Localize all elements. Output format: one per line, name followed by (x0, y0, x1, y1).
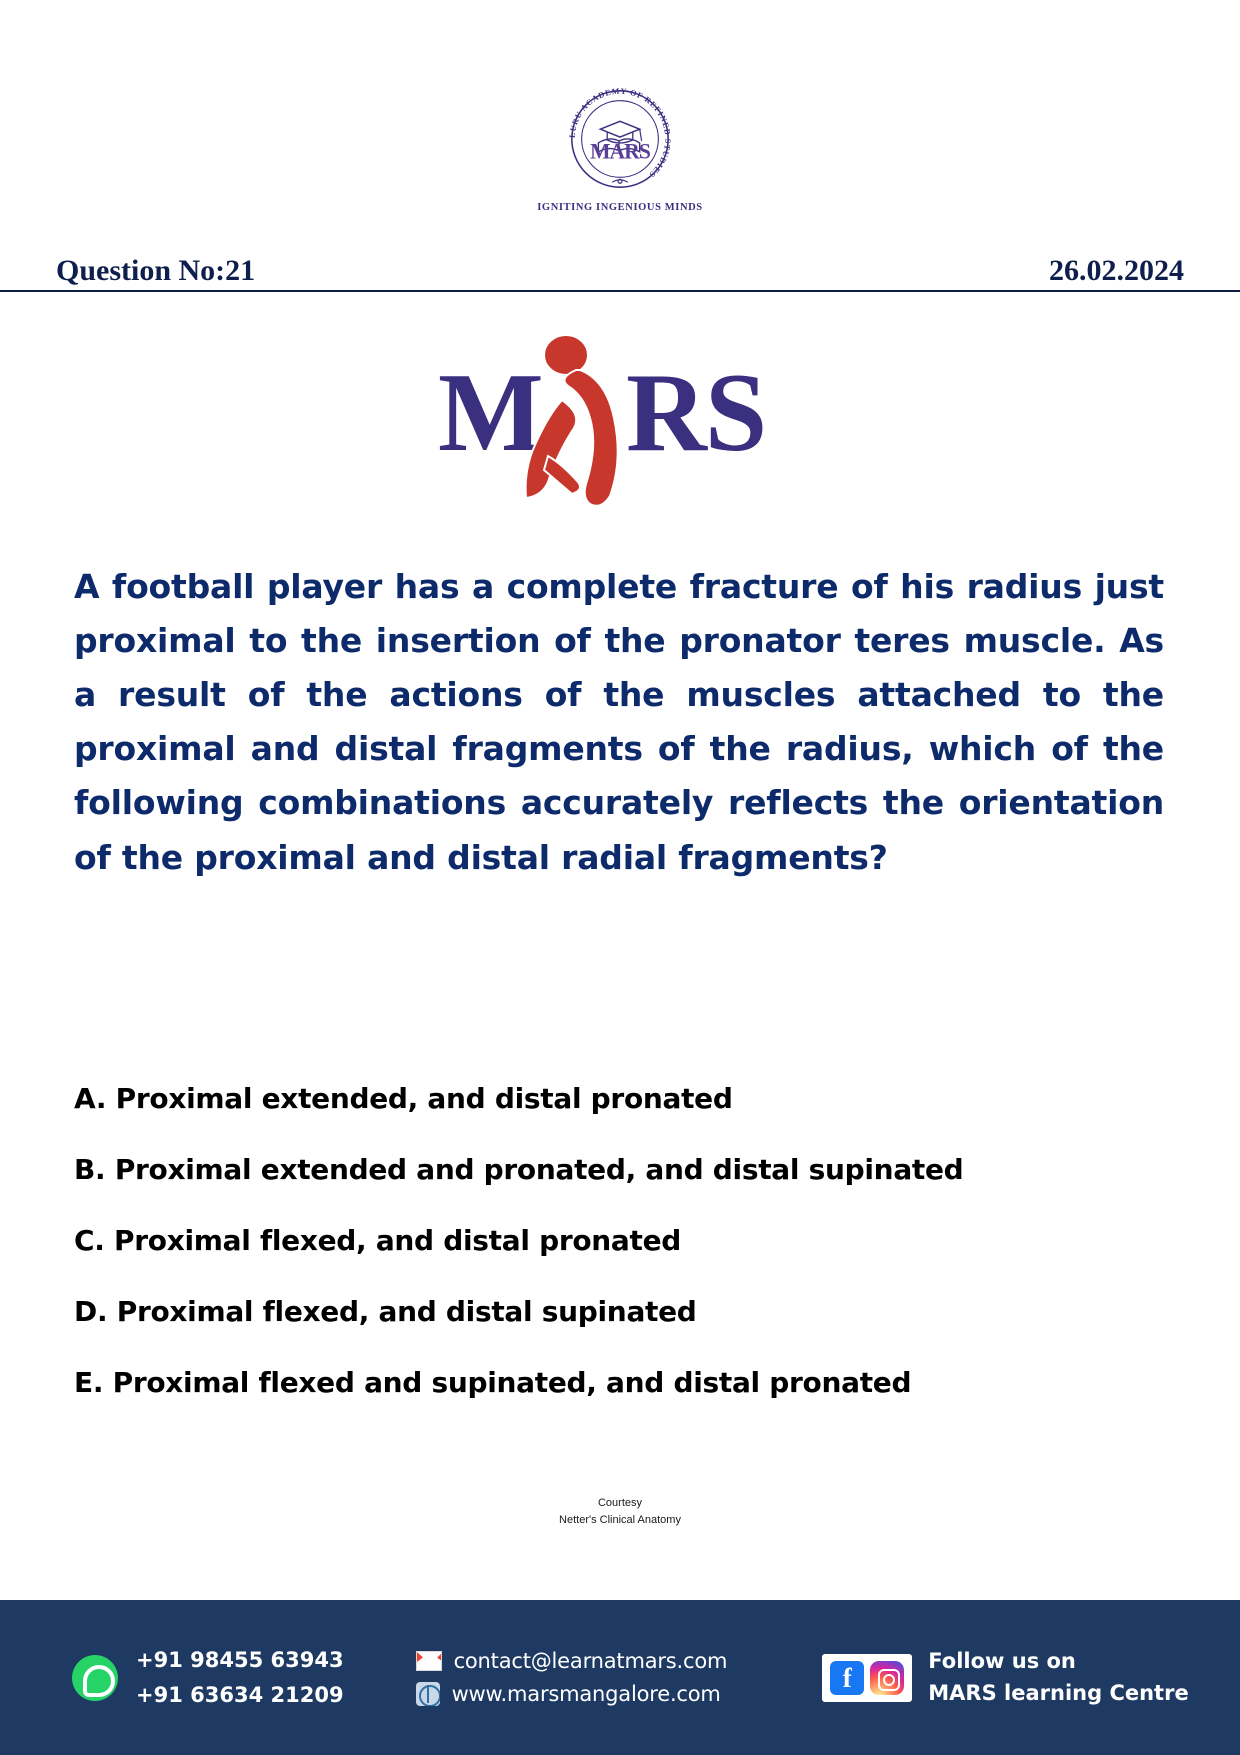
whatsapp-icon[interactable] (72, 1655, 118, 1701)
gmail-icon (416, 1651, 442, 1671)
mars-academy-seal-icon: MANGALURU ACADEMY OF REFINED STUDIES MAR… (561, 80, 679, 198)
social-handle-label: MARS learning Centre (928, 1678, 1188, 1710)
document-page: MANGALURU ACADEMY OF REFINED STUDIES MAR… (0, 0, 1240, 1755)
svg-text:MARS: MARS (590, 140, 651, 164)
website-address: www.marsmangalore.com (452, 1682, 721, 1706)
question-header-bar: Question No:21 26.02.2024 (0, 236, 1240, 292)
footer-bar: +91 98455 63943 +91 63634 21209 contact@… (0, 1600, 1240, 1755)
header-emblem: MANGALURU ACADEMY OF REFINED STUDIES MAR… (0, 80, 1240, 213)
options-list: A. Proximal extended, and distal pronate… (74, 1082, 1154, 1437)
question-number-label: Question No:21 (56, 255, 255, 291)
email-address: contact@learnatmars.com (454, 1649, 728, 1673)
option-e[interactable]: E. Proximal flexed and supinated, and di… (74, 1366, 1154, 1399)
mars-wordmark: M RS (0, 326, 1240, 506)
svg-text:M: M (438, 351, 542, 475)
courtesy-label: Courtesy (0, 1495, 1240, 1512)
footer-phone-group: +91 98455 63943 +91 63634 21209 (72, 1643, 344, 1711)
courtesy-source: Netter's Clinical Anatomy (0, 1512, 1240, 1529)
footer-email-row[interactable]: contact@learnatmars.com (416, 1649, 728, 1673)
instagram-icon[interactable] (870, 1661, 904, 1695)
option-c[interactable]: C. Proximal flexed, and distal pronated (74, 1224, 1154, 1257)
option-a[interactable]: A. Proximal extended, and distal pronate… (74, 1082, 1154, 1115)
option-b[interactable]: B. Proximal extended and pronated, and d… (74, 1153, 1154, 1186)
footer-website-row[interactable]: www.marsmangalore.com (416, 1682, 728, 1706)
svg-text:RS: RS (626, 351, 765, 475)
option-d[interactable]: D. Proximal flexed, and distal supinated (74, 1295, 1154, 1328)
facebook-icon[interactable] (830, 1661, 864, 1695)
footer-contact-group: contact@learnatmars.com www.marsmangalor… (416, 1640, 728, 1715)
question-text: A football player has a complete fractur… (74, 560, 1164, 885)
phone-number-1: +91 98455 63943 (136, 1643, 344, 1677)
courtesy-note: Courtesy Netter's Clinical Anatomy (0, 1495, 1240, 1528)
footer-social-group: Follow us on MARS learning Centre (822, 1646, 1188, 1709)
date-label: 26.02.2024 (1049, 255, 1184, 291)
mars-logo-icon: M RS (430, 326, 810, 506)
social-icons-box (822, 1654, 912, 1702)
seal-tagline: IGNITING INGENIOUS MINDS (537, 202, 703, 213)
follow-us-label: Follow us on (928, 1646, 1188, 1678)
globe-icon (416, 1682, 440, 1706)
phone-number-2: +91 63634 21209 (136, 1678, 344, 1712)
